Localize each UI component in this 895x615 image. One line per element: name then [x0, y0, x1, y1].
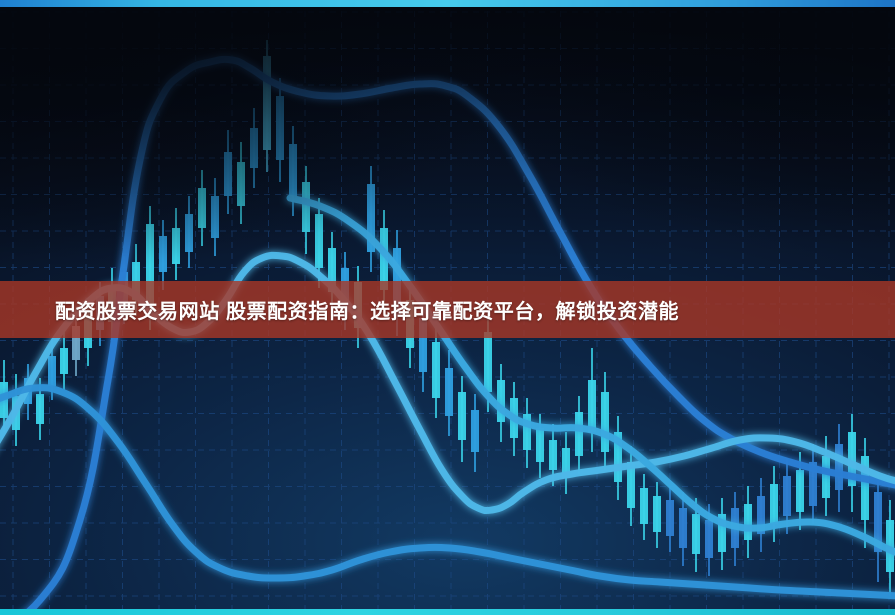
chart-banner-image: 配资股票交易网站 股票配资指南：选择可靠配资平台，解锁投资潜能 — [0, 0, 895, 615]
headline-text: 配资股票交易网站 股票配资指南：选择可靠配资平台，解锁投资潜能 — [55, 295, 679, 324]
bottom-accent-rule — [0, 609, 895, 615]
top-accent-rule — [0, 0, 895, 7]
headline-banner: 配资股票交易网站 股票配资指南：选择可靠配资平台，解锁投资潜能 — [0, 281, 895, 338]
